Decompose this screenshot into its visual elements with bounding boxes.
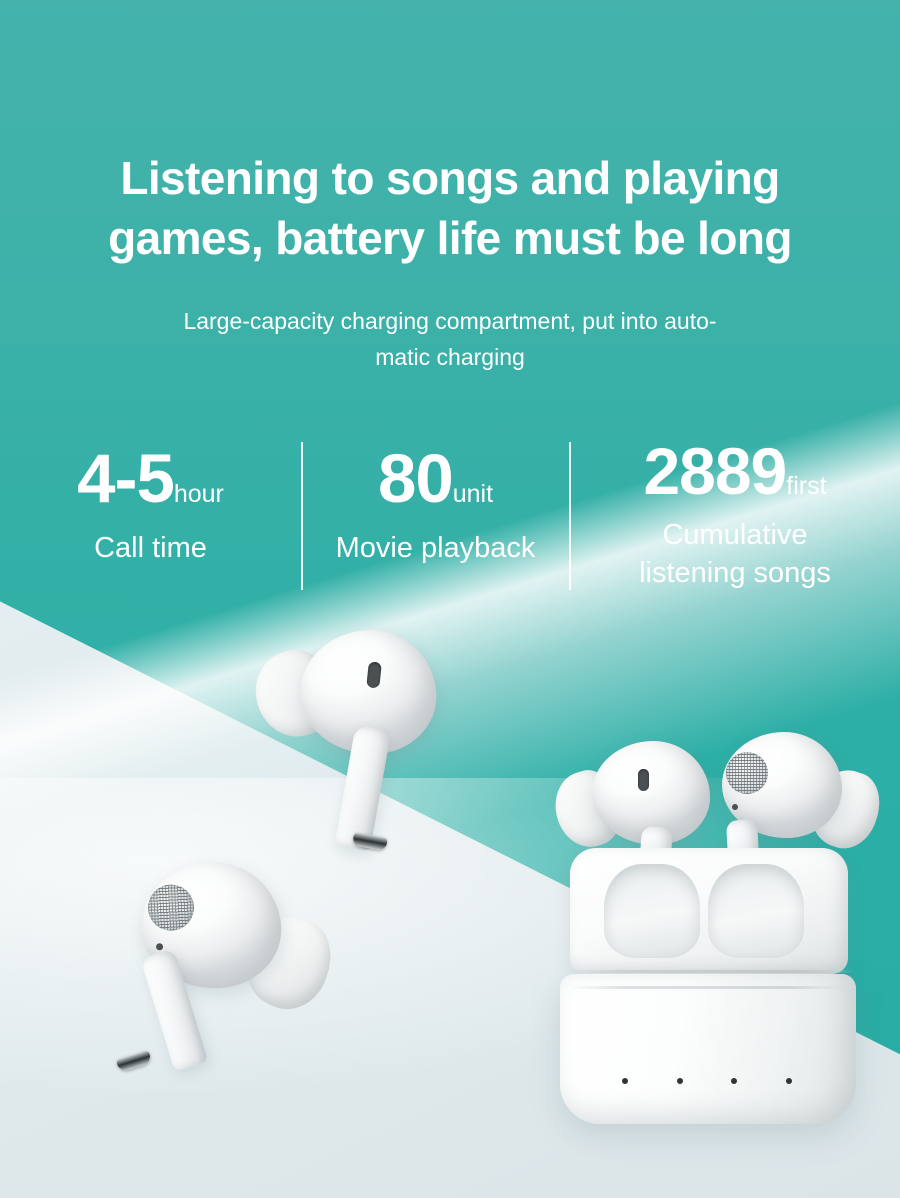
- stat-value: 2889first: [570, 438, 900, 504]
- stat-label: Cumulative listening songs: [570, 516, 900, 593]
- earbud-lower-left: [102, 856, 344, 1108]
- stat-number: 80: [378, 440, 453, 517]
- led-indicator-1: [622, 1078, 628, 1084]
- stat-divider-2: [569, 442, 571, 590]
- headline-line-1: Listening to songs and playing: [28, 149, 872, 209]
- subheadline: Large-capacity charging compartment, put…: [0, 304, 900, 375]
- case-base: [560, 974, 856, 1124]
- led-indicator-4: [786, 1078, 792, 1084]
- case-hinge-line: [568, 970, 854, 973]
- headline-line-2: games, battery life must be long: [28, 209, 872, 269]
- headline: Listening to songs and playing games, ba…: [0, 149, 900, 269]
- stem-chrome-contact: [116, 1050, 152, 1072]
- stat-unit: unit: [453, 480, 493, 508]
- stat-unit: hour: [174, 480, 224, 508]
- microphone-hole: [732, 804, 738, 810]
- stat-number: 4-5: [77, 440, 174, 517]
- charging-case: [560, 848, 892, 1148]
- stat-call-time: 4-5hour Call time: [0, 438, 301, 567]
- stat-label: Movie playback: [301, 529, 570, 567]
- product-banner: Listening to songs and playing games, ba…: [0, 0, 900, 1198]
- earbud-upper-left: [254, 616, 493, 874]
- stat-unit: first: [786, 472, 826, 500]
- case-led-indicators: [622, 1078, 792, 1084]
- stat-number: 2889: [643, 434, 786, 508]
- case-lid-well-right: [708, 864, 804, 958]
- stat-value: 80unit: [301, 444, 570, 513]
- case-lid-well-left: [604, 864, 700, 958]
- case-base-seam: [570, 986, 846, 989]
- stat-divider-1: [301, 442, 303, 590]
- subheadline-line-2: matic charging: [110, 340, 790, 376]
- stats-strip: 4-5hour Call time 80unit Movie playback …: [0, 438, 900, 638]
- subheadline-line-1: Large-capacity charging compartment, put…: [110, 304, 790, 340]
- led-indicator-2: [677, 1078, 683, 1084]
- stat-value: 4-5hour: [0, 444, 301, 513]
- stat-cumulative-listening-songs: 2889first Cumulative listening songs: [570, 438, 900, 593]
- stat-label: Call time: [0, 529, 301, 567]
- led-indicator-3: [731, 1078, 737, 1084]
- speaker-mesh-grille: [726, 752, 768, 794]
- stat-movie-playback: 80unit Movie playback: [301, 438, 570, 567]
- sensor-slot: [638, 769, 649, 791]
